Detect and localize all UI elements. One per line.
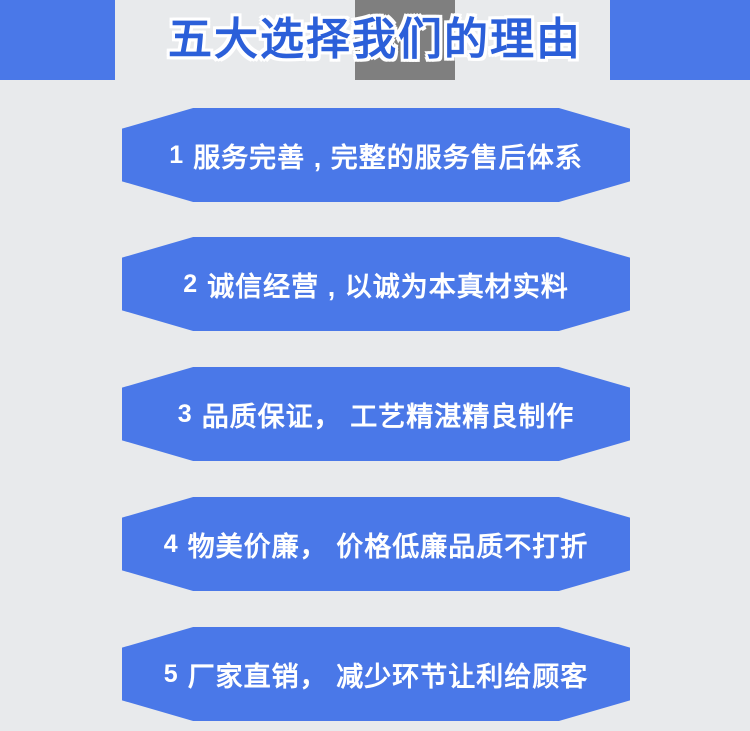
reason-text: 诚信经营 , 以诚为本真材实料 xyxy=(207,265,569,304)
list-item: 4 物美价廉， 价格低廉品质不打折 xyxy=(122,497,630,591)
reason-text: 品质保证， 工艺精湛精良制作 xyxy=(202,395,575,434)
list-item: 5 厂家直销， 减少环节让利给顾客 xyxy=(122,627,630,721)
list-item: 2 诚信经营 , 以诚为本真材实料 xyxy=(122,237,630,331)
reason-number: 3 xyxy=(178,400,192,429)
reason-number: 1 xyxy=(169,141,183,170)
list-item: 1 服务完善 , 完整的服务售后体系 xyxy=(122,108,630,202)
reason-number: 4 xyxy=(164,530,178,559)
reason-number: 5 xyxy=(164,660,178,689)
reason-text: 厂家直销， 减少环节让利给顾客 xyxy=(188,655,589,694)
poster-header: 五大选择我们的理由 xyxy=(0,0,750,80)
promo-poster: 五大选择我们的理由 1 服务完善 , 完整的服务售后体系 2 诚信经营 , 以诚… xyxy=(0,0,750,731)
reason-text: 物美价廉， 价格低廉品质不打折 xyxy=(188,525,589,564)
page-title: 五大选择我们的理由 xyxy=(0,0,750,80)
reason-number: 2 xyxy=(183,270,197,299)
list-item: 3 品质保证， 工艺精湛精良制作 xyxy=(122,367,630,461)
reason-text: 服务完善 , 完整的服务售后体系 xyxy=(193,136,583,175)
reasons-list: 1 服务完善 , 完整的服务售后体系 2 诚信经营 , 以诚为本真材实料 3 品… xyxy=(0,80,750,731)
